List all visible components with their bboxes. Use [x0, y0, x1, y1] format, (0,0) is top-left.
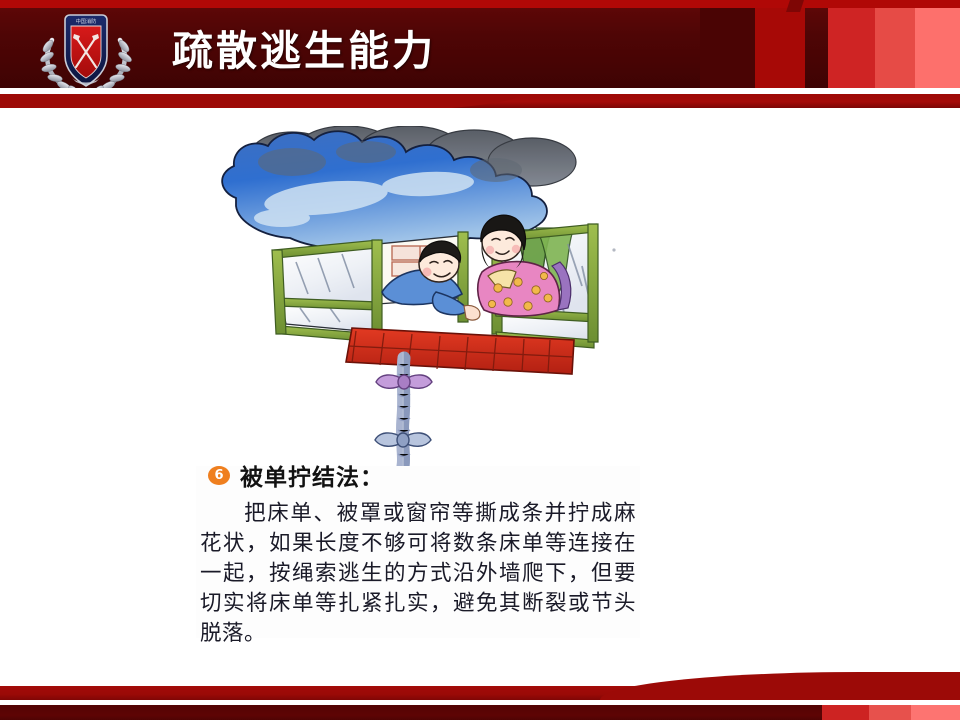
slide-content: 6 被单拧结法： 把床单、被罩或窗帘等撕成条并拧成麻花状，如果长度不够可将数条床…	[0, 108, 960, 660]
caption-body-text: 把床单、被罩或窗帘等撕成条并拧成麻花状，如果长度不够可将数条床单等连接在一起，按…	[200, 501, 636, 646]
header-top-strip	[0, 0, 960, 8]
footer-accent-band-2	[869, 705, 911, 720]
header-accent-band-1	[828, 8, 875, 88]
caption-heading: 6 被单拧结法：	[208, 458, 640, 492]
page-title: 疏散逃生能力	[172, 17, 436, 77]
caption-body: 把床单、被罩或窗帘等撕成条并拧成麻花状，如果长度不够可将数条床单等连接在一起，按…	[200, 499, 636, 649]
caption-number-badge: 6	[208, 466, 230, 485]
header-accent-band-2	[875, 8, 915, 88]
header-accent-band-0	[755, 8, 805, 88]
header-accent-band-3	[915, 8, 960, 88]
footer-dark-bar	[0, 705, 960, 720]
slide-header: 中国消防 疏散逃生能力	[0, 0, 960, 88]
footer-accent-band-1	[822, 705, 869, 720]
escape-illustration-figure: 6 被单拧结法： 把床单、被罩或窗帘等撕成条并拧成麻花状，如果长度不够可将数条床…	[196, 126, 640, 638]
china-fire-service-emblem-icon: 中国消防	[38, 6, 134, 98]
illustration-caption: 6 被单拧结法： 把床单、被罩或窗帘等撕成条并拧成麻花状，如果长度不够可将数条床…	[196, 458, 640, 649]
slide: 中国消防 疏散逃生能力	[0, 0, 960, 720]
footer-accent-band-3	[911, 705, 960, 720]
footer-curve-sweep	[600, 672, 960, 700]
emblem-text: 中国消防	[76, 17, 97, 25]
caption-title: 被单拧结法：	[240, 458, 384, 492]
illustration-image	[196, 126, 640, 466]
slide-footer	[0, 660, 960, 720]
